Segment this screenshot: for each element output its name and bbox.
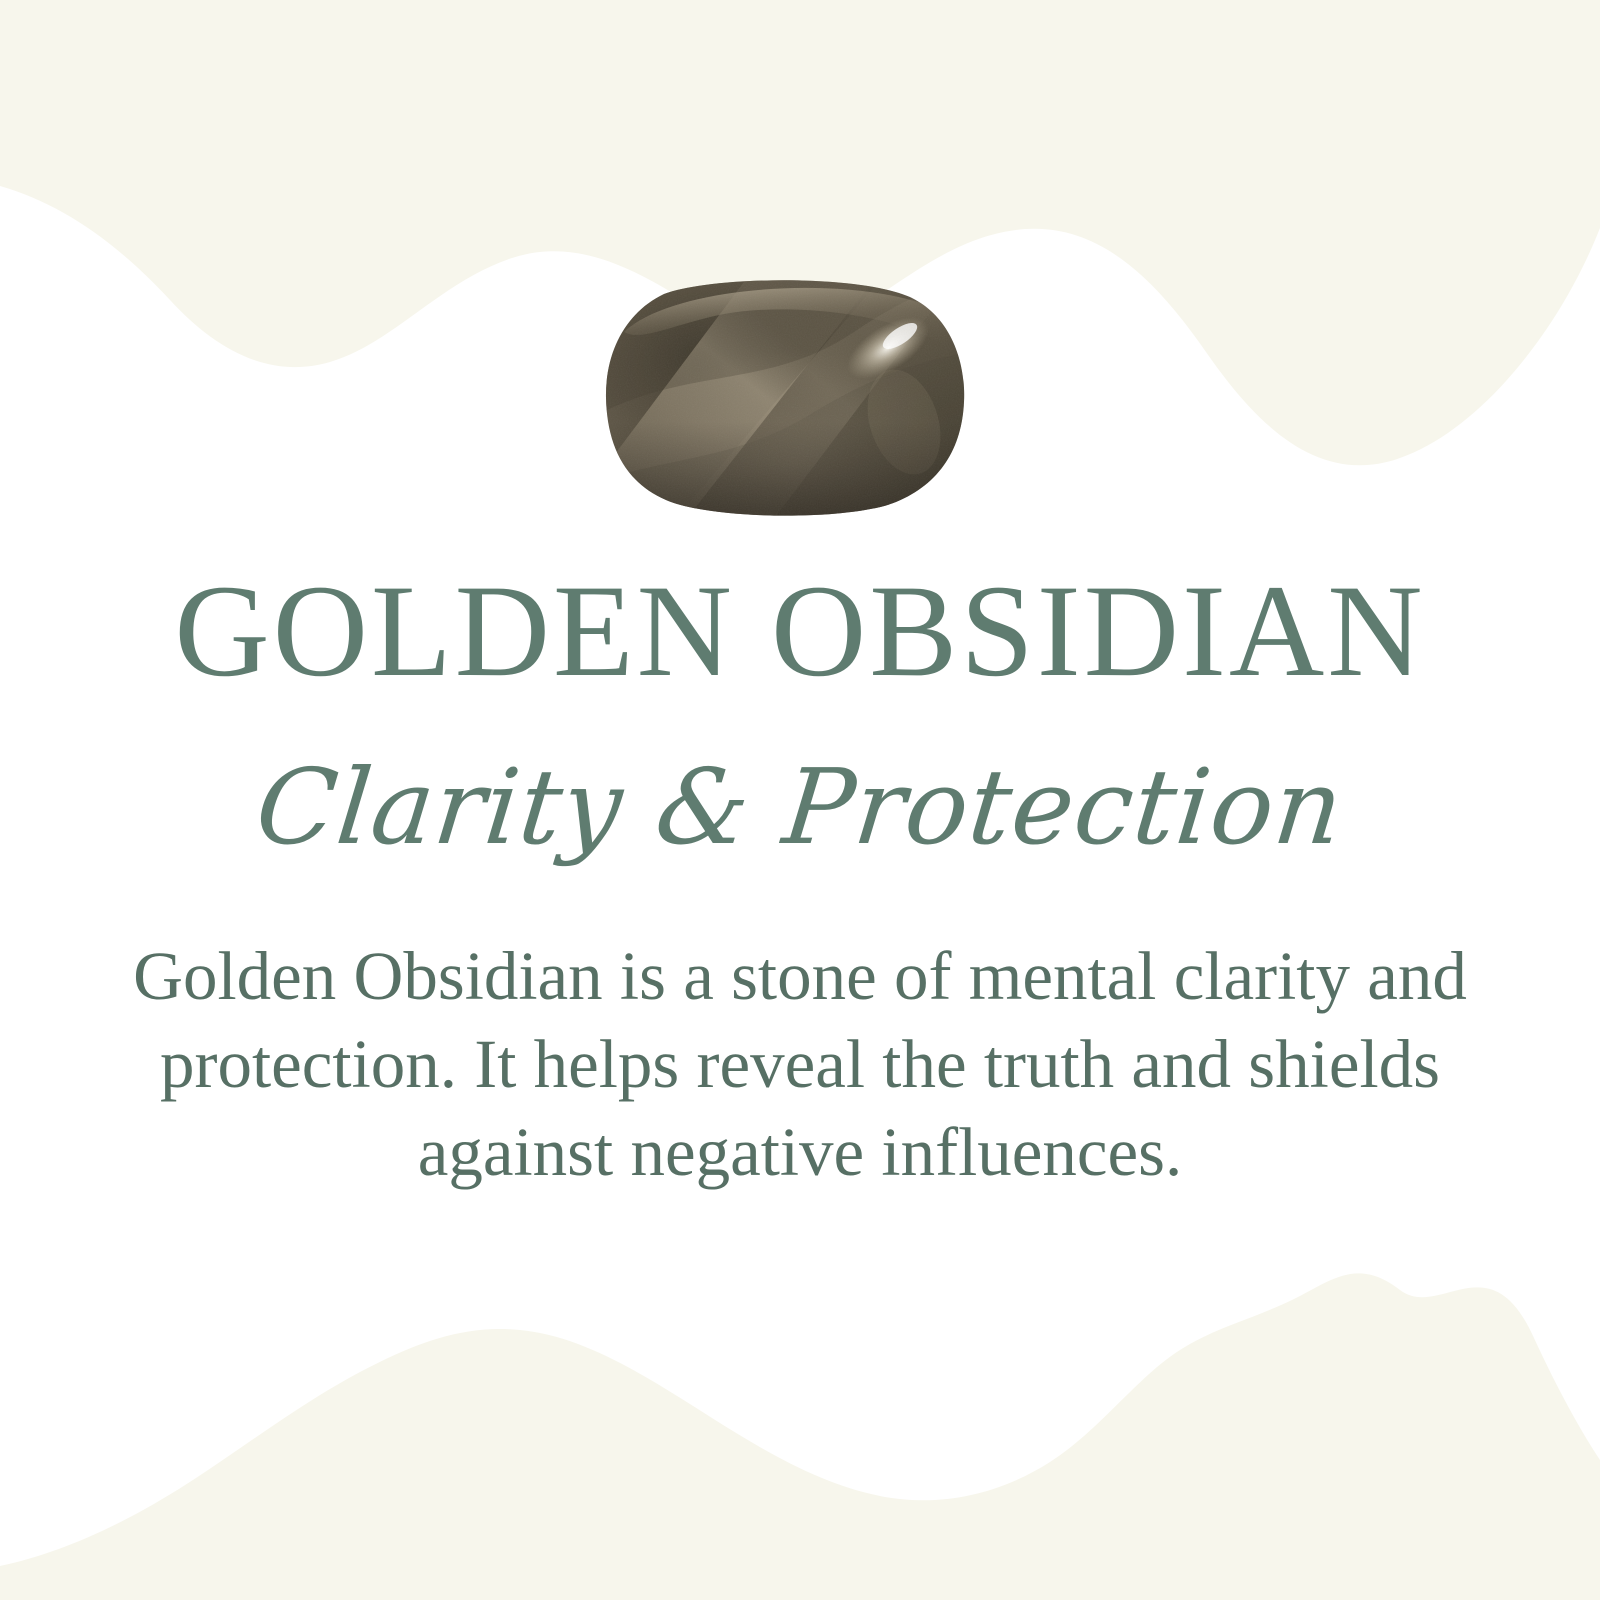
card-subtitle: Clarity & Protection bbox=[0, 742, 1600, 872]
card-description: Golden Obsidian is a stone of mental cla… bbox=[80, 932, 1520, 1196]
bottom-wave-blob bbox=[0, 1273, 1600, 1600]
stone-image-container bbox=[604, 272, 968, 518]
page-title: GOLDEN OBSIDIAN bbox=[0, 565, 1600, 697]
golden-obsidian-stone bbox=[604, 272, 968, 518]
crystal-info-card: GOLDEN OBSIDIAN Clarity & Protection Gol… bbox=[0, 0, 1600, 1600]
